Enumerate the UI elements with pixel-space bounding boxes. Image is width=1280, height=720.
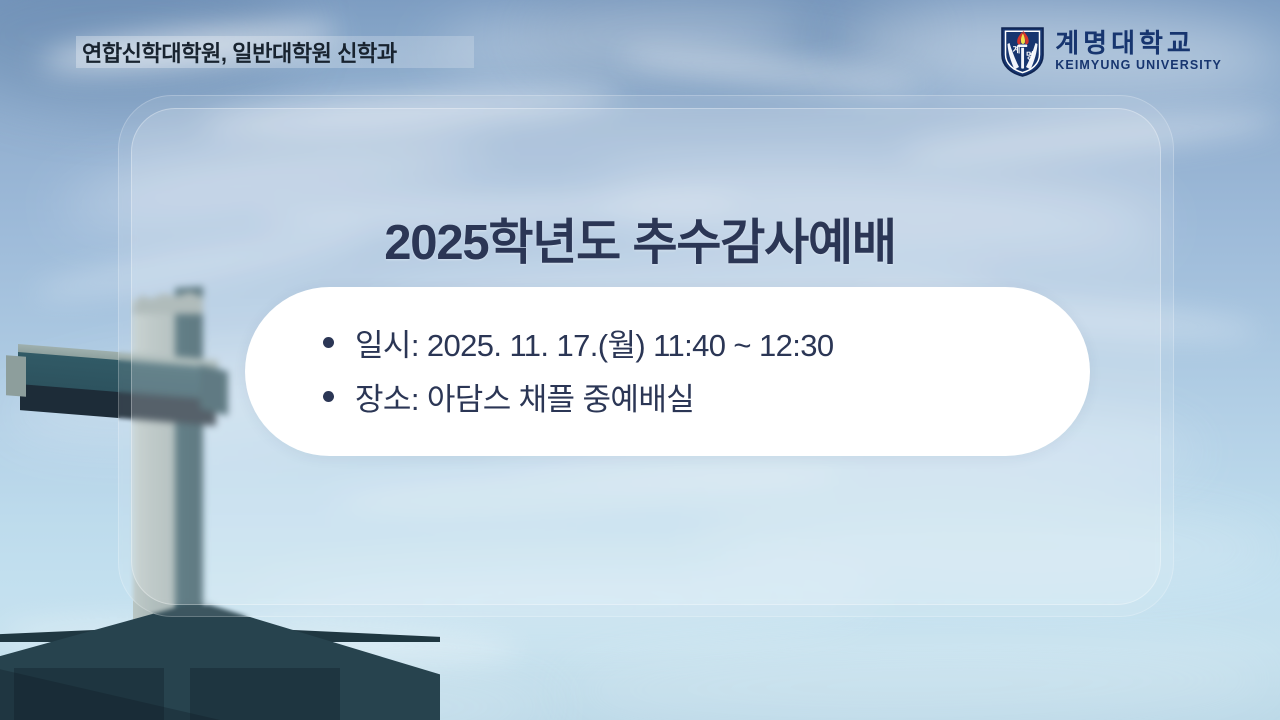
detail-location-text: 장소: 아담스 채플 중예배실 [355, 374, 694, 419]
bullet-dot-icon [323, 337, 334, 348]
presentation-slide: 연합신학대학원, 일반대학원 신학과 계 명 계명대학교 KEIMYUNG UN… [0, 0, 1280, 720]
keimyung-shield-torch-crest-icon: 계 명 [1000, 25, 1045, 77]
roof-panel [190, 668, 340, 720]
svg-text:계: 계 [1013, 45, 1021, 55]
detail-datetime-text: 일시: 2025. 11. 17.(월) 11:40 ~ 12:30 [355, 320, 834, 365]
svg-text:명: 명 [1026, 51, 1034, 61]
details-list: 일시: 2025. 11. 17.(월) 11:40 ~ 12:30 장소: 아… [323, 315, 834, 423]
list-item: 장소: 아담스 채플 중예배실 [323, 369, 834, 423]
logo-name-english: KEIMYUNG UNIVERSITY [1055, 59, 1222, 72]
roof-panel [14, 668, 164, 720]
university-logo[interactable]: 계 명 계명대학교 KEIMYUNG UNIVERSITY [1000, 25, 1222, 77]
slide-title: 2025학년도 추수감사예배 [0, 203, 1280, 274]
list-item: 일시: 2025. 11. 17.(월) 11:40 ~ 12:30 [323, 315, 834, 369]
logo-name-korean: 계명대학교 [1055, 30, 1195, 56]
bullet-dot-icon [323, 391, 334, 402]
cross-arm-left-cap [6, 355, 26, 397]
details-card: 일시: 2025. 11. 17.(월) 11:40 ~ 12:30 장소: 아… [245, 287, 1090, 456]
header-department-label: 연합신학대학원, 일반대학원 신학과 [82, 36, 397, 68]
